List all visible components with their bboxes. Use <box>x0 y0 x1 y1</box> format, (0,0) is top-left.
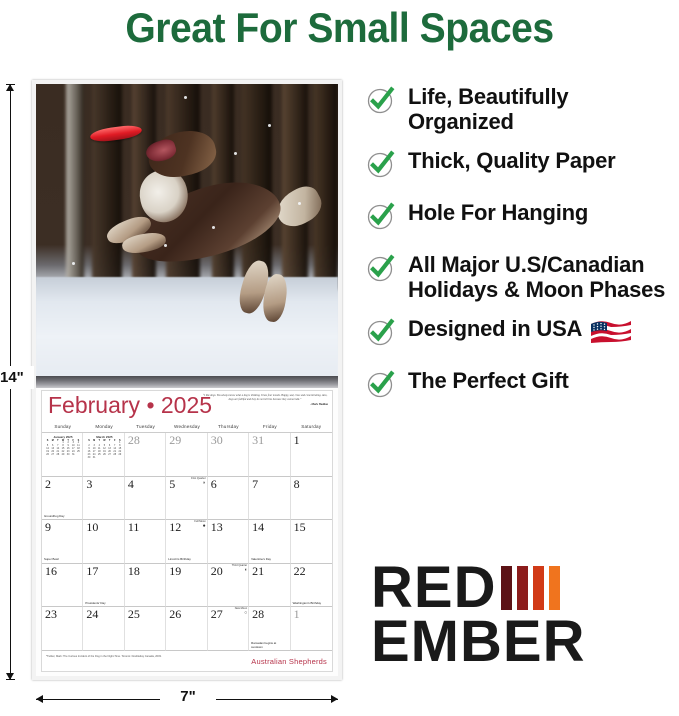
weekday-sunday: Sunday <box>42 421 83 432</box>
tree-trunk <box>38 84 64 290</box>
calendar-binding <box>36 376 338 388</box>
logo-word-red: RED <box>371 562 496 614</box>
calendar-day-cell[interactable]: January 2025SMTWTFS123456789101112131415… <box>42 433 83 477</box>
holiday-label: Ramadan begins at sundown <box>251 642 287 649</box>
feature-label: All Major U.S/CanadianHolidays & Moon Ph… <box>408 252 665 302</box>
quote-text: “I like dogs. You always know what a dog… <box>203 394 328 401</box>
snowflake <box>268 124 271 127</box>
red-ember-logo: RED EMBER <box>371 562 601 670</box>
snow-ground <box>36 277 338 376</box>
weekday-wednesday: Wednesday <box>166 421 207 432</box>
calendar-footer: *Twitter, Mark: The Curious Incident of … <box>42 651 332 671</box>
calendar-day-cell[interactable]: 20Third Quarter◖ <box>208 564 249 608</box>
day-number: 31 <box>252 433 264 447</box>
calendar-day-cell[interactable]: 30 <box>208 433 249 477</box>
day-number: 7 <box>252 477 258 491</box>
calendar-weekday-header: Sunday Monday Tuesday Wednesday Thursday… <box>42 421 332 433</box>
day-number: 24 <box>86 607 98 621</box>
moon-phase-icon: ○ <box>235 611 247 616</box>
tree-trunk <box>66 84 84 290</box>
calendar-day-cell[interactable]: 24 <box>83 607 124 651</box>
calendar-day-cell[interactable]: 10 <box>83 520 124 564</box>
calendar-day-cell[interactable]: 14Valentine's Day <box>249 520 290 564</box>
day-number: 19 <box>169 564 181 578</box>
day-number: 23 <box>45 607 57 621</box>
calendar-day-cell[interactable]: 6 <box>208 477 249 521</box>
feature-item: Designed in USA <box>366 316 672 354</box>
feature-label-line1: Hole For Hanging <box>408 200 588 225</box>
day-number: 16 <box>45 564 57 578</box>
tree-trunk <box>314 84 338 290</box>
calendar-header: February • 2025 “I like dogs. You always… <box>42 391 332 421</box>
calendar-day-cell[interactable]: 2Groundhog Day <box>42 477 83 521</box>
calendar-day-cell[interactable]: 7 <box>249 477 290 521</box>
calendar-inner: February • 2025 “I like dogs. You always… <box>41 390 333 672</box>
weekday-tuesday: Tuesday <box>125 421 166 432</box>
day-number: 13 <box>211 520 223 534</box>
day-number: 15 <box>294 520 306 534</box>
width-dimension-label: 7" <box>160 688 216 705</box>
day-number: 6 <box>211 477 217 491</box>
snowflake <box>72 262 75 265</box>
holiday-label: Groundhog Day <box>44 515 80 518</box>
arrow-down-icon <box>6 673 14 680</box>
calendar-day-cell[interactable]: 19 <box>166 564 207 608</box>
day-number: 27 <box>211 607 223 621</box>
arrow-right-icon <box>331 695 338 703</box>
calendar-day-cell[interactable]: 12Full Moon●Lincoln's Birthday <box>166 520 207 564</box>
day-number: 1 <box>294 607 300 621</box>
snowflake <box>298 202 301 205</box>
calendar-month-page: February • 2025 “I like dogs. You always… <box>36 376 338 676</box>
calendar-day-cell[interactable]: 17Presidents' Day <box>83 564 124 608</box>
month-name: February <box>48 392 140 418</box>
calendar-day-cell[interactable]: 13 <box>208 520 249 564</box>
logo-word-ember: EMBER <box>371 614 601 670</box>
weekday-monday: Monday <box>83 421 124 432</box>
month-separator: • <box>146 392 154 418</box>
moon-phase-icon: ● <box>194 524 205 529</box>
feature-item: The Perfect Gift <box>366 368 672 406</box>
mini-calendar-next-month: March 2025SMTWTFS12345678910111213141516… <box>86 435 122 460</box>
weekday-friday: Friday <box>249 421 290 432</box>
calendar-day-cell[interactable]: 28Ramadan begins at sundown <box>249 607 290 651</box>
check-circle-icon <box>366 317 396 347</box>
day-number: 14 <box>252 520 264 534</box>
day-number: 12 <box>169 520 181 534</box>
calendar-day-cell[interactable]: 11 <box>125 520 166 564</box>
arrow-up-icon <box>6 84 14 91</box>
snowflake <box>212 226 215 229</box>
day-number: 25 <box>128 607 140 621</box>
feature-item: Thick, Quality Paper <box>366 148 672 186</box>
moon-phase-marker: Full Moon● <box>194 521 205 529</box>
calendar-day-cell[interactable]: 23 <box>42 607 83 651</box>
holiday-label: Valentine's Day <box>251 558 287 561</box>
holiday-label: Presidents' Day <box>85 602 121 605</box>
day-number: 11 <box>128 520 140 534</box>
calendar-day-cell[interactable]: 15 <box>291 520 332 564</box>
feature-label-line1: All Major U.S/Canadian <box>408 252 644 277</box>
feature-label: Thick, Quality Paper <box>408 148 616 173</box>
calendar-breed-label: Australian Shepherds <box>251 657 327 666</box>
day-number: 22 <box>294 564 306 578</box>
snowflake <box>164 244 167 247</box>
feature-label: Designed in USA <box>408 316 632 343</box>
tree-trunk <box>92 84 122 290</box>
feature-label: Hole For Hanging <box>408 200 588 225</box>
feature-item: All Major U.S/CanadianHolidays & Moon Ph… <box>366 252 672 302</box>
calendar-day-cell[interactable]: 4 <box>125 477 166 521</box>
day-number: 29 <box>169 433 181 447</box>
feature-item: Hole For Hanging <box>366 200 672 238</box>
calendar-day-cell[interactable]: 21 <box>249 564 290 608</box>
day-number: 3 <box>86 477 92 491</box>
day-number: 26 <box>169 607 181 621</box>
day-number: 18 <box>128 564 140 578</box>
weekday-thursday: Thursday <box>208 421 249 432</box>
moon-phase-icon: ◗ <box>191 481 206 486</box>
calendar-day-cell[interactable]: 26 <box>166 607 207 651</box>
check-circle-icon <box>366 149 396 179</box>
logo-bar-1 <box>501 566 512 610</box>
calendar-day-cell[interactable]: 1 <box>291 607 332 651</box>
moon-phase-icon: ◖ <box>232 568 247 573</box>
calendar-quote: “I like dogs. You always know what a dog… <box>202 394 328 407</box>
check-circle-icon <box>366 369 396 399</box>
arrow-left-icon <box>36 695 43 703</box>
feature-list: Life, Beautifully OrganizedThick, Qualit… <box>366 84 672 420</box>
holiday-label: Lincoln's Birthday <box>168 558 204 561</box>
day-number: 17 <box>86 564 98 578</box>
calendar-day-cell[interactable]: 8 <box>291 477 332 521</box>
height-dimension-label: 14" <box>0 366 34 389</box>
logo-bar-4 <box>549 566 560 610</box>
quote-author: –Mark Haddon <box>202 403 328 407</box>
day-number: 1 <box>294 433 300 447</box>
moon-phase-marker: First Quarter◗ <box>191 478 206 486</box>
day-number: 21 <box>252 564 264 578</box>
day-number: 30 <box>211 433 223 447</box>
logo-ember-bars <box>501 566 560 610</box>
product-calendar-preview: February • 2025 “I like dogs. You always… <box>32 80 342 680</box>
day-number: 28 <box>128 433 140 447</box>
us-flag-icon <box>590 317 632 343</box>
day-number: 5 <box>169 477 175 491</box>
check-circle-icon <box>366 85 396 115</box>
feature-label-line1: Designed in USA <box>408 316 582 341</box>
calendar-day-cell[interactable]: 29 <box>166 433 207 477</box>
feature-label-line1: Life, Beautifully Organized <box>408 84 568 134</box>
check-circle-icon <box>366 201 396 231</box>
day-number: 20 <box>211 564 223 578</box>
day-number: 28 <box>252 607 264 621</box>
logo-row-red: RED <box>371 562 601 614</box>
calendar-photo <box>36 84 338 376</box>
calendar-day-cell[interactable]: 9Super Bowl <box>42 520 83 564</box>
calendar-day-cell[interactable]: 16 <box>42 564 83 608</box>
calendar-day-cell[interactable]: 25 <box>125 607 166 651</box>
feature-label-line1: Thick, Quality Paper <box>408 148 616 173</box>
calendar-day-cell[interactable]: 3 <box>83 477 124 521</box>
holiday-label: Super Bowl <box>44 558 80 561</box>
day-number: 10 <box>86 520 98 534</box>
moon-phase-marker: Third Quarter◖ <box>232 565 247 573</box>
calendar-day-cell[interactable]: 27New Moon○ <box>208 607 249 651</box>
calendar-day-cell[interactable]: March 2025SMTWTFS12345678910111213141516… <box>83 433 124 477</box>
mini-calendar-previous-month: January 2025SMTWTFS123456789101112131415… <box>45 435 81 457</box>
feature-label-line1: The Perfect Gift <box>408 368 569 393</box>
calendar-day-cell[interactable]: 18 <box>125 564 166 608</box>
feature-label-line2: Holidays & Moon Phases <box>408 277 665 302</box>
calendar-footnote: *Twitter, Mark: The Curious Incident of … <box>46 655 196 659</box>
day-number: 9 <box>45 520 51 534</box>
moon-phase-marker: New Moon○ <box>235 608 247 616</box>
day-number: 2 <box>45 477 51 491</box>
day-number: 4 <box>128 477 134 491</box>
calendar-day-grid: January 2025SMTWTFS123456789101112131415… <box>42 433 332 651</box>
calendar-day-cell[interactable]: 31 <box>249 433 290 477</box>
logo-bar-2 <box>517 566 528 610</box>
day-number: 8 <box>294 477 300 491</box>
check-circle-icon <box>366 253 396 283</box>
calendar-day-cell[interactable]: 5First Quarter◗ <box>166 477 207 521</box>
holiday-label: Washington's Birthday <box>293 602 330 605</box>
calendar-day-cell[interactable]: 1 <box>291 433 332 477</box>
calendar-day-cell[interactable]: 22Washington's Birthday <box>291 564 332 608</box>
calendar-day-cell[interactable]: 28 <box>125 433 166 477</box>
feature-label: The Perfect Gift <box>408 368 569 393</box>
snowflake <box>184 96 187 99</box>
calendar-month-title: February • 2025 <box>48 392 212 419</box>
logo-bar-3 <box>533 566 544 610</box>
feature-label: Life, Beautifully Organized <box>408 84 672 134</box>
weekday-saturday: Saturday <box>291 421 332 432</box>
feature-item: Life, Beautifully Organized <box>366 84 672 134</box>
page-title: Great For Small Spaces <box>24 4 655 52</box>
snowflake <box>234 152 237 155</box>
